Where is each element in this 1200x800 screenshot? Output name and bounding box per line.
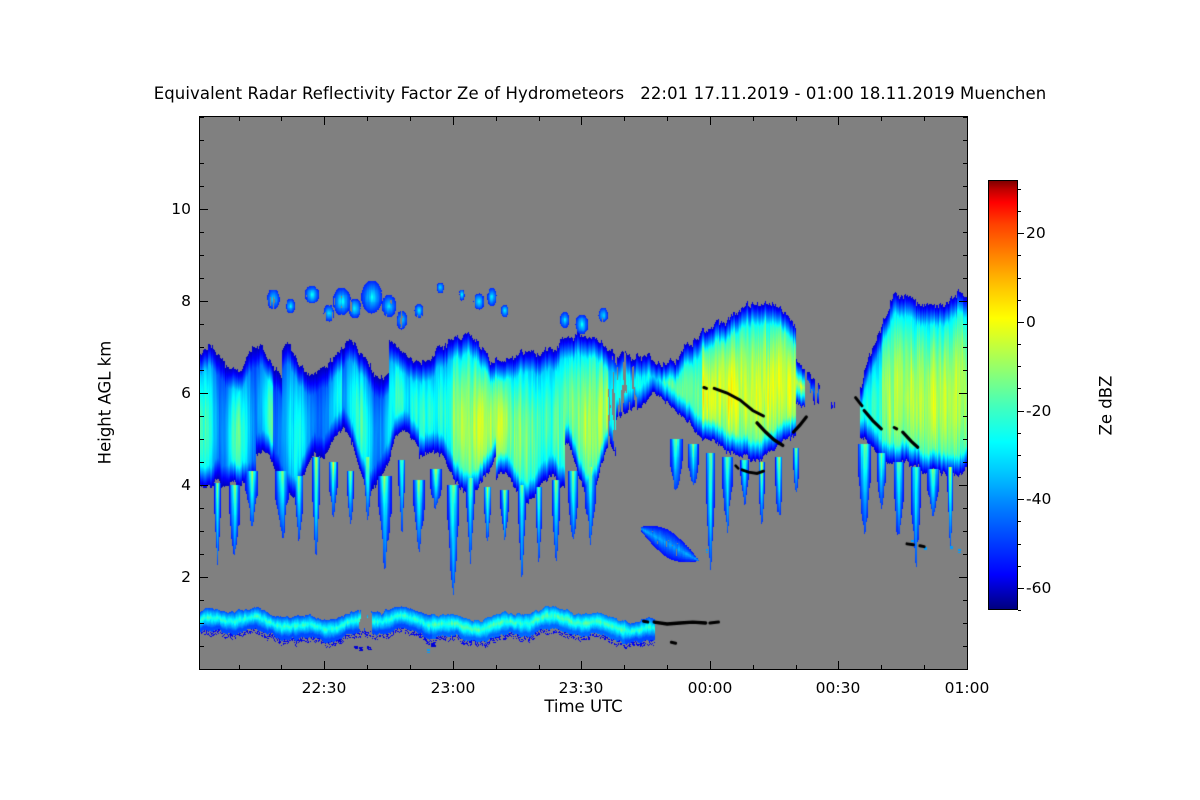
x-major-tick-top (581, 116, 582, 125)
y-minor-tick (199, 508, 204, 509)
x-minor-tick-top (281, 116, 282, 121)
x-axis-title: Time UTC (199, 697, 968, 716)
x-minor-tick (281, 665, 282, 670)
y-major-tick-right (959, 577, 968, 578)
colorbar-minor-tick (1018, 521, 1021, 522)
x-major-tick-top (710, 116, 711, 125)
x-minor-tick-top (367, 116, 368, 121)
y-minor-tick (199, 163, 204, 164)
x-minor-tick (667, 665, 668, 670)
y-minor-tick (199, 623, 204, 624)
y-major-tick-right (959, 485, 968, 486)
x-minor-tick-top (239, 116, 240, 121)
plot-area (199, 116, 968, 670)
colorbar-minor-tick (1018, 388, 1021, 389)
colorbar-minor-tick (1018, 455, 1021, 456)
y-minor-tick (199, 416, 204, 417)
y-minor-tick-right (963, 186, 968, 187)
x-minor-tick (924, 665, 925, 670)
x-tick-label: 01:00 (945, 679, 990, 697)
x-minor-tick (367, 665, 368, 670)
y-minor-tick-right (963, 324, 968, 325)
radar-reflectivity-figure: Equivalent Radar Reflectivity Factor Ze … (0, 0, 1200, 800)
x-minor-tick (796, 665, 797, 670)
y-major-tick-right (959, 301, 968, 302)
y-minor-tick (199, 117, 204, 118)
x-minor-tick-top (924, 116, 925, 121)
colorbar-minor-tick (1018, 211, 1021, 212)
x-major-tick-top (453, 116, 454, 125)
y-minor-tick-right (963, 140, 968, 141)
y-tick-label: 4 (151, 476, 191, 494)
x-major-tick-top (324, 116, 325, 125)
x-minor-tick (753, 665, 754, 670)
y-minor-tick-right (963, 163, 968, 164)
y-minor-tick-right (963, 232, 968, 233)
y-major-tick (199, 485, 208, 486)
y-minor-tick-right (963, 531, 968, 532)
colorbar-minor-tick (1018, 344, 1021, 345)
colorbar-major-tick (1018, 322, 1024, 323)
y-minor-tick (199, 278, 204, 279)
y-minor-tick (199, 646, 204, 647)
x-major-tick (967, 661, 968, 670)
colorbar (988, 180, 1018, 610)
y-minor-tick-right (963, 646, 968, 647)
y-minor-tick-right (963, 347, 968, 348)
colorbar-minor-tick (1018, 366, 1021, 367)
y-major-tick (199, 577, 208, 578)
x-major-tick (453, 661, 454, 670)
colorbar-tick-label: 0 (1026, 313, 1036, 331)
y-major-tick-right (959, 209, 968, 210)
colorbar-minor-tick (1018, 278, 1021, 279)
x-major-tick (838, 661, 839, 670)
y-minor-tick-right (963, 623, 968, 624)
y-minor-tick-right (963, 278, 968, 279)
x-major-tick (324, 661, 325, 670)
x-minor-tick-top (624, 116, 625, 121)
x-minor-tick-top (796, 116, 797, 121)
x-minor-tick (539, 665, 540, 670)
colorbar-minor-tick (1018, 433, 1021, 434)
colorbar-major-tick (1018, 233, 1024, 234)
y-tick-label: 10 (151, 200, 191, 218)
x-major-tick (710, 661, 711, 670)
y-minor-tick (199, 232, 204, 233)
colorbar-minor-tick (1018, 610, 1021, 611)
y-major-tick-right (959, 393, 968, 394)
colorbar-minor-tick (1018, 544, 1021, 545)
x-minor-tick-top (539, 116, 540, 121)
x-major-tick-top (838, 116, 839, 125)
colorbar-minor-tick (1018, 566, 1021, 567)
colorbar-minor-tick (1018, 477, 1021, 478)
y-minor-tick-right (963, 117, 968, 118)
y-minor-tick-right (963, 554, 968, 555)
colorbar-tick-label: -60 (1026, 579, 1051, 597)
x-minor-tick-top (410, 116, 411, 121)
colorbar-tick-label: -20 (1026, 402, 1051, 420)
x-minor-tick-top (496, 116, 497, 121)
y-minor-tick (199, 531, 204, 532)
x-minor-tick (239, 665, 240, 670)
y-minor-tick-right (963, 508, 968, 509)
y-minor-tick-right (963, 439, 968, 440)
y-minor-tick (199, 347, 204, 348)
y-tick-label: 2 (151, 568, 191, 586)
x-major-tick (581, 661, 582, 670)
y-tick-label: 6 (151, 384, 191, 402)
colorbar-major-tick (1018, 588, 1024, 589)
y-tick-label: 8 (151, 292, 191, 310)
y-minor-tick-right (963, 462, 968, 463)
colorbar-tick-label: 20 (1026, 224, 1046, 242)
y-minor-tick (199, 140, 204, 141)
x-tick-label: 23:30 (559, 679, 604, 697)
colorbar-major-tick (1018, 499, 1024, 500)
colorbar-minor-tick (1018, 255, 1021, 256)
y-minor-tick-right (963, 255, 968, 256)
y-minor-tick (199, 554, 204, 555)
y-minor-tick (199, 324, 204, 325)
y-major-tick (199, 209, 208, 210)
x-tick-label: 22:30 (302, 679, 347, 697)
reflectivity-heatmap-canvas (200, 117, 967, 669)
y-minor-tick (199, 439, 204, 440)
x-minor-tick (410, 665, 411, 670)
y-axis-title: Height AGL km (96, 288, 115, 518)
colorbar-minor-tick (1018, 189, 1021, 190)
y-minor-tick (199, 462, 204, 463)
y-minor-tick (199, 600, 204, 601)
x-minor-tick-top (881, 116, 882, 121)
y-major-tick (199, 301, 208, 302)
y-minor-tick-right (963, 600, 968, 601)
x-minor-tick-top (667, 116, 668, 121)
x-minor-tick (881, 665, 882, 670)
colorbar-major-tick (1018, 411, 1024, 412)
y-minor-tick-right (963, 370, 968, 371)
x-minor-tick (496, 665, 497, 670)
x-tick-label: 23:00 (431, 679, 476, 697)
y-major-tick (199, 393, 208, 394)
x-tick-label: 00:00 (688, 679, 733, 697)
y-minor-tick (199, 370, 204, 371)
y-minor-tick (199, 255, 204, 256)
colorbar-title: Ze dBZ (1097, 276, 1116, 536)
y-minor-tick (199, 186, 204, 187)
colorbar-minor-tick (1018, 300, 1021, 301)
x-minor-tick (624, 665, 625, 670)
x-minor-tick-top (753, 116, 754, 121)
y-minor-tick-right (963, 416, 968, 417)
x-tick-label: 00:30 (816, 679, 861, 697)
figure-title: Equivalent Radar Reflectivity Factor Ze … (0, 84, 1200, 103)
colorbar-tick-label: -40 (1026, 490, 1051, 508)
